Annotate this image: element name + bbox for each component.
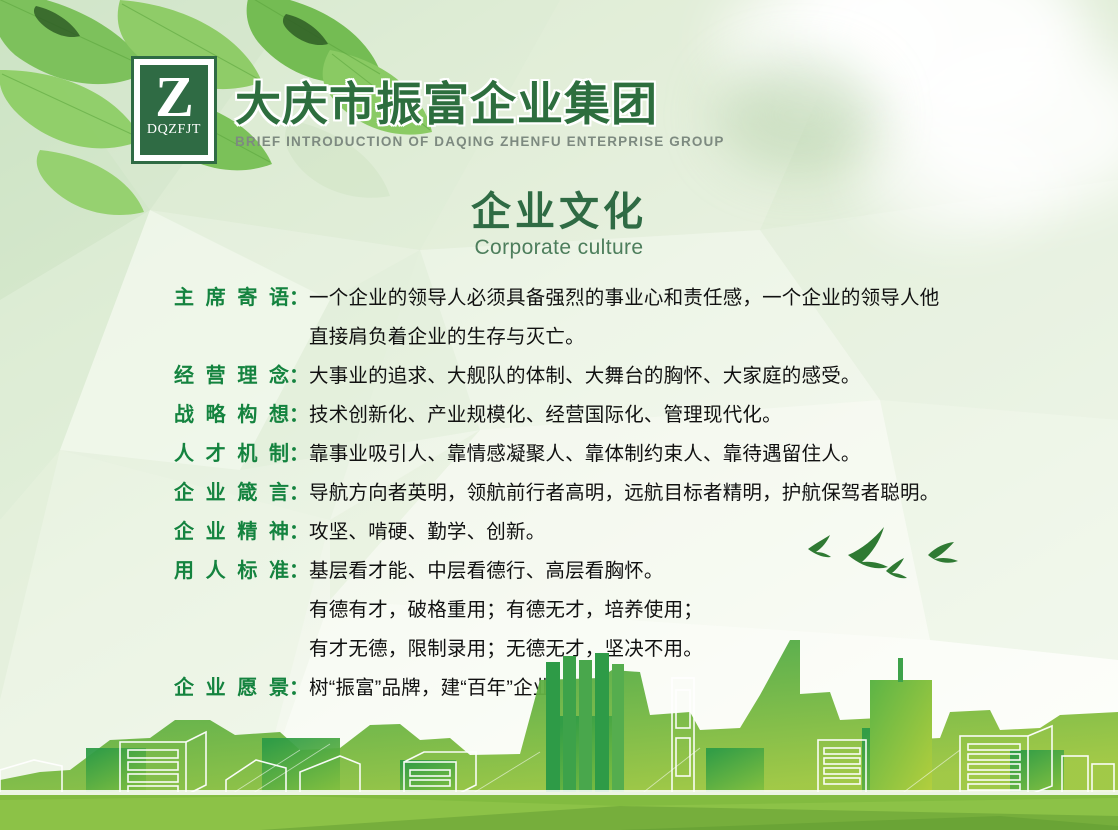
culture-row-body: 有德有才，破格重用；有德无才，培养使用； — [309, 593, 1004, 627]
culture-row-colon: ： — [289, 476, 309, 510]
culture-row-colon: ： — [289, 398, 309, 432]
culture-row-body: 技术创新化、产业规模化、经营国际化、管理现代化。 — [309, 398, 1004, 432]
section-title-en: Corporate culture — [0, 236, 1118, 260]
logo-abbr: DQZFJT — [147, 122, 201, 138]
culture-row-label: 企业箴言 — [174, 476, 289, 510]
culture-row-line: 一个企业的领导人必须具备强烈的事业心和责任感，一个企业的领导人他 — [309, 281, 1004, 315]
culture-row-line: 基层看才能、中层看德行、高层看胸怀。 — [309, 554, 1004, 588]
culture-row: 主席寄语：直接肩负着企业的生存与灭亡。 — [174, 320, 1004, 354]
company-name-en: BRIEF INTRODUCTION OF DAQING ZHENFU ENTE… — [235, 134, 725, 149]
culture-row-label: 战略构想 — [174, 398, 289, 432]
culture-row-colon: ： — [289, 359, 309, 393]
culture-row-line: 技术创新化、产业规模化、经营国际化、管理现代化。 — [309, 398, 1004, 432]
corporate-culture-poster: Z DQZFJT 大庆市振富企业集团 BRIEF INTRODUCTION OF… — [0, 0, 1118, 830]
culture-row-label: 用人标准 — [174, 554, 289, 588]
culture-row-body: 有才无德，限制录用；无德无才，坚决不用。 — [309, 632, 1004, 666]
culture-row-body: 靠事业吸引人、靠情感凝聚人、靠体制约束人、靠待遇留住人。 — [309, 437, 1004, 471]
culture-row-colon: ： — [289, 437, 309, 471]
culture-row: 企业精神：攻坚、啃硬、勤学、创新。 — [174, 515, 1004, 549]
culture-row-colon: ： — [289, 671, 309, 705]
company-logo: Z DQZFJT — [131, 56, 217, 164]
culture-row-label: 企业愿景 — [174, 671, 289, 705]
culture-row: 主席寄语：一个企业的领导人必须具备强烈的事业心和责任感，一个企业的领导人他 — [174, 281, 1004, 315]
culture-row-line: 树“振富”品牌，建“百年”企业。 — [309, 671, 1004, 705]
culture-row-body: 一个企业的领导人必须具备强烈的事业心和责任感，一个企业的领导人他 — [309, 281, 1004, 315]
poster-header: Z DQZFJT 大庆市振富企业集团 BRIEF INTRODUCTION OF… — [131, 56, 725, 164]
logo-letter-z: Z — [155, 69, 193, 124]
culture-row-body: 树“振富”品牌，建“百年”企业。 — [309, 671, 1004, 705]
culture-row: 用人标准：有才无德，限制录用；无德无才，坚决不用。 — [174, 632, 1004, 666]
culture-row-body: 攻坚、啃硬、勤学、创新。 — [309, 515, 1004, 549]
culture-row-colon: ： — [289, 554, 309, 588]
culture-row: 用人标准：基层看才能、中层看德行、高层看胸怀。 — [174, 554, 1004, 588]
culture-row-label: 主席寄语 — [174, 281, 289, 315]
culture-row-body: 大事业的追求、大舰队的体制、大舞台的胸怀、大家庭的感受。 — [309, 359, 1004, 393]
culture-row: 用人标准：有德有才，破格重用；有德无才，培养使用； — [174, 593, 1004, 627]
culture-row: 企业愿景：树“振富”品牌，建“百年”企业。 — [174, 671, 1004, 705]
culture-row-line: 大事业的追求、大舰队的体制、大舞台的胸怀、大家庭的感受。 — [309, 359, 1004, 393]
culture-row-line: 有才无德，限制录用；无德无才，坚决不用。 — [309, 632, 1004, 666]
cloud-icon — [788, 0, 1088, 130]
culture-row-line: 攻坚、啃硬、勤学、创新。 — [309, 515, 1004, 549]
header-titles: 大庆市振富企业集团 BRIEF INTRODUCTION OF DAQING Z… — [235, 56, 725, 149]
culture-row-body: 直接肩负着企业的生存与灭亡。 — [309, 320, 1004, 354]
culture-row-line: 靠事业吸引人、靠情感凝聚人、靠体制约束人、靠待遇留住人。 — [309, 437, 1004, 471]
company-name: 大庆市振富企业集团 — [235, 80, 725, 128]
cloud-icon — [718, 0, 958, 120]
section-title-cn: 企业文化 — [0, 190, 1118, 234]
culture-row: 企业箴言：导航方向者英明，领航前行者高明，远航目标者精明，护航保驾者聪明。 — [174, 476, 1004, 510]
culture-row: 人才机制：靠事业吸引人、靠情感凝聚人、靠体制约束人、靠待遇留住人。 — [174, 437, 1004, 471]
culture-row-label: 企业精神 — [174, 515, 289, 549]
culture-row-line: 导航方向者英明，领航前行者高明，远航目标者精明，护航保驾者聪明。 — [309, 476, 1004, 510]
section-heading: 企业文化 Corporate culture — [0, 190, 1118, 260]
culture-row-label: 人才机制 — [174, 437, 289, 471]
culture-row-body: 基层看才能、中层看德行、高层看胸怀。 — [309, 554, 1004, 588]
culture-row: 战略构想：技术创新化、产业规模化、经营国际化、管理现代化。 — [174, 398, 1004, 432]
culture-row: 经营理念：大事业的追求、大舰队的体制、大舞台的胸怀、大家庭的感受。 — [174, 359, 1004, 393]
culture-row-line: 有德有才，破格重用；有德无才，培养使用； — [309, 593, 1004, 627]
culture-row-body: 导航方向者英明，领航前行者高明，远航目标者精明，护航保驾者聪明。 — [309, 476, 1004, 510]
culture-row-colon: ： — [289, 515, 309, 549]
cloud-icon — [898, 40, 1118, 210]
culture-row-line: 直接肩负着企业的生存与灭亡。 — [309, 320, 1004, 354]
culture-row-colon: ： — [289, 281, 309, 315]
cloud-icon — [718, 60, 878, 170]
culture-list: 主席寄语：一个企业的领导人必须具备强烈的事业心和责任感，一个企业的领导人他主席寄… — [174, 281, 1004, 710]
culture-row-label: 经营理念 — [174, 359, 289, 393]
